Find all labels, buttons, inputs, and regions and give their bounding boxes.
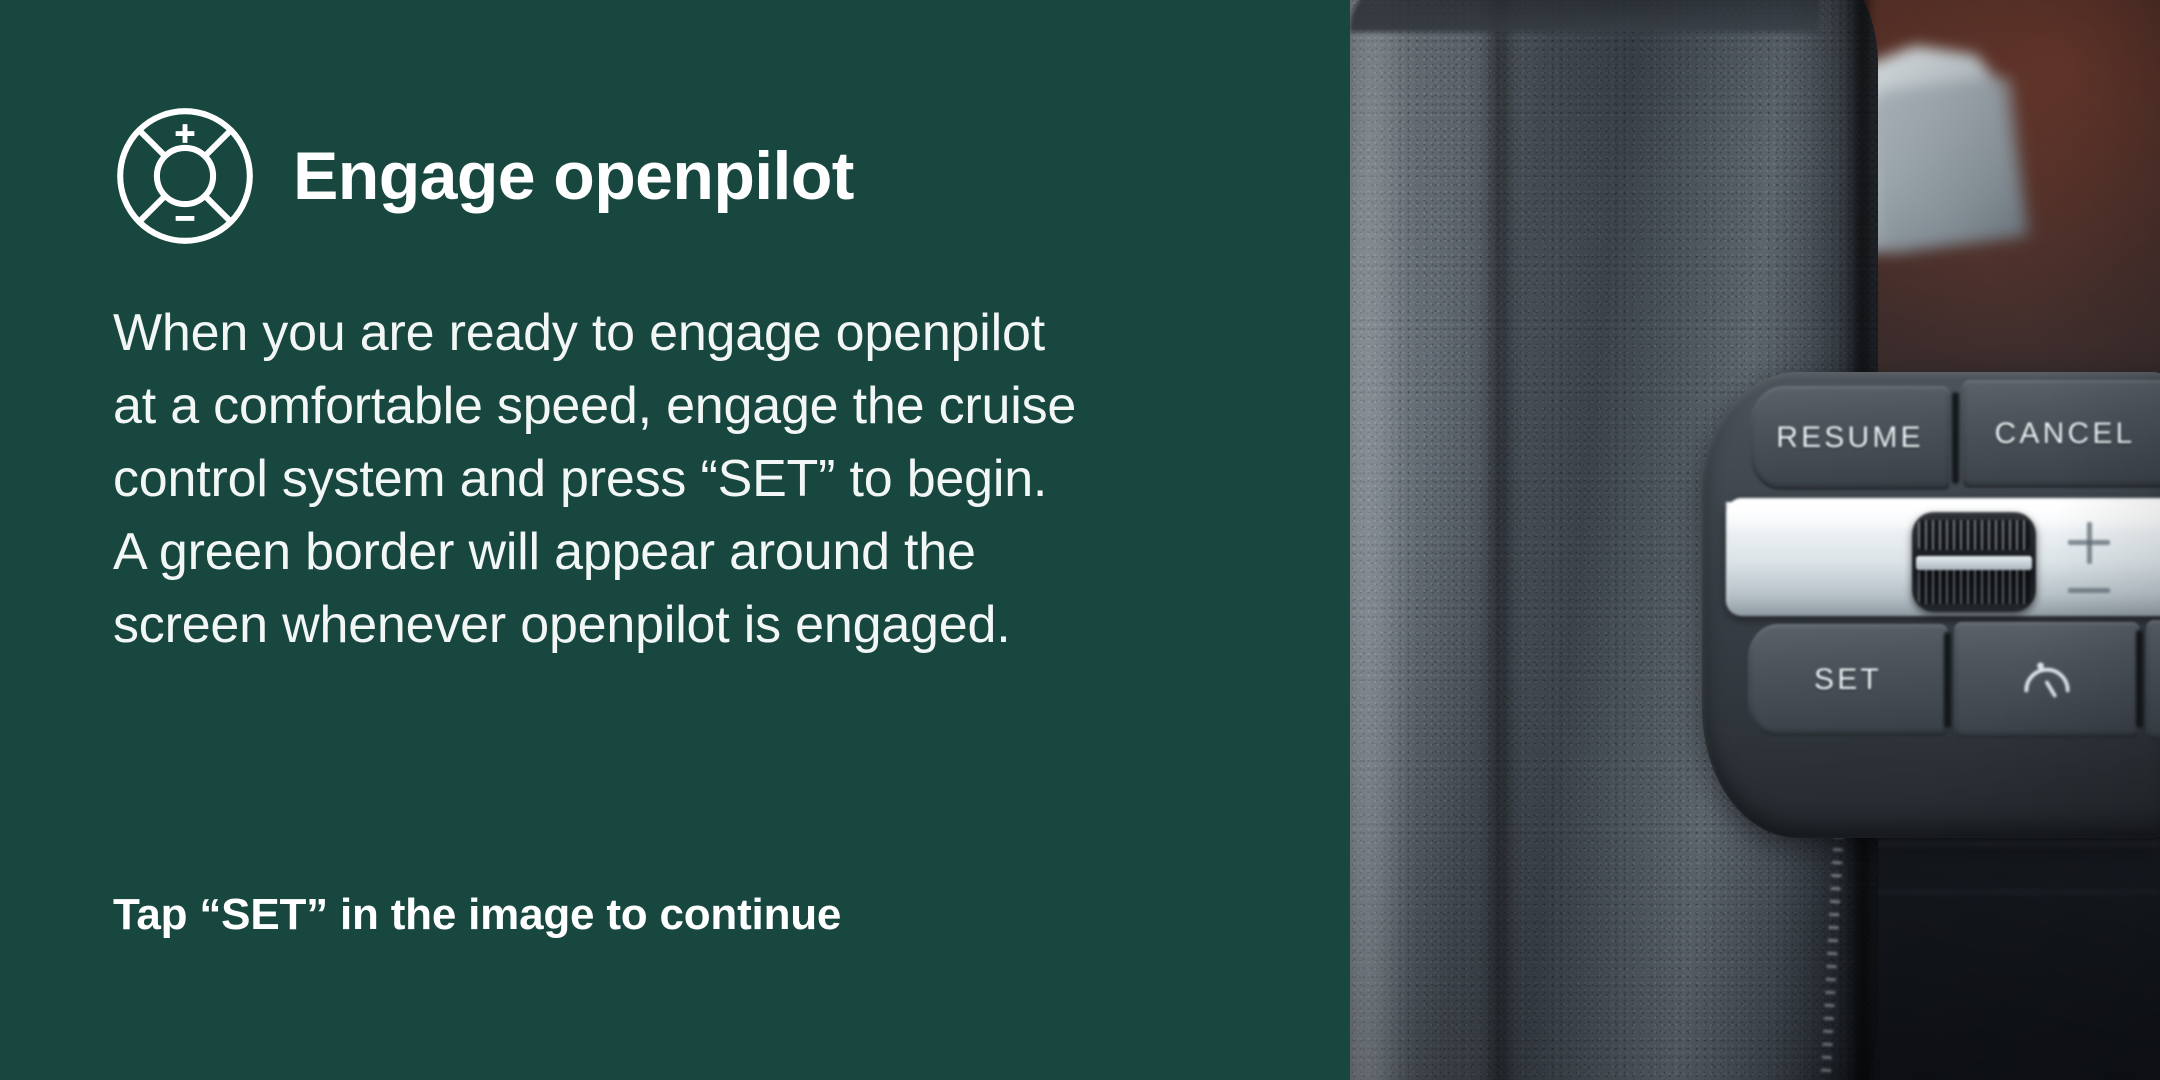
steering-wheel-photo[interactable]: RESUME CANCEL SET <box>1350 0 2160 1080</box>
continue-prompt: Tap “SET” in the image to continue <box>113 890 841 940</box>
button-divider <box>1952 392 1959 484</box>
body-line: at a comfortable speed, engage the cruis… <box>113 370 1293 443</box>
following-distance-button[interactable] <box>1954 622 2140 738</box>
following-distance-icon <box>2016 649 2078 711</box>
rim-highlight <box>1350 0 1409 1080</box>
button-divider <box>2136 630 2143 728</box>
body-line: screen whenever openpilot is engaged. <box>113 589 1293 662</box>
cruise-control-wheel-icon <box>113 104 257 248</box>
body-line: A green border will appear around the <box>113 516 1293 589</box>
rocker-knurl-top <box>1918 520 2030 550</box>
paddle-shade <box>1866 75 2031 256</box>
set-button[interactable]: SET <box>1748 624 1948 736</box>
speed-rocker-switch[interactable] <box>1912 512 2036 612</box>
instruction-body: When you are ready to engage openpilot a… <box>113 297 1293 662</box>
page-title: Engage openpilot <box>293 142 854 210</box>
minus-mark-icon <box>2068 588 2110 593</box>
body-line: When you are ready to engage openpilot <box>113 297 1293 370</box>
cancel-button[interactable]: CANCEL <box>1962 380 2160 488</box>
body-line: control system and press “SET” to begin. <box>113 443 1293 516</box>
onboarding-screen: Engage openpilot When you are ready to e… <box>0 0 2160 1080</box>
rim-groove <box>1486 0 1514 1080</box>
housing-top-lip <box>1350 0 1820 32</box>
panel-header: Engage openpilot <box>113 104 854 248</box>
instruction-panel: Engage openpilot When you are ready to e… <box>0 0 1350 1080</box>
speed-plus-minus-marks <box>2050 516 2132 608</box>
extra-button[interactable] <box>2146 620 2160 740</box>
resume-button[interactable]: RESUME <box>1750 386 1950 490</box>
plus-mark-icon <box>2068 540 2110 545</box>
button-divider <box>1944 632 1951 728</box>
rocker-midline <box>1916 556 2032 570</box>
rocker-knurl-bottom <box>1918 570 2030 604</box>
